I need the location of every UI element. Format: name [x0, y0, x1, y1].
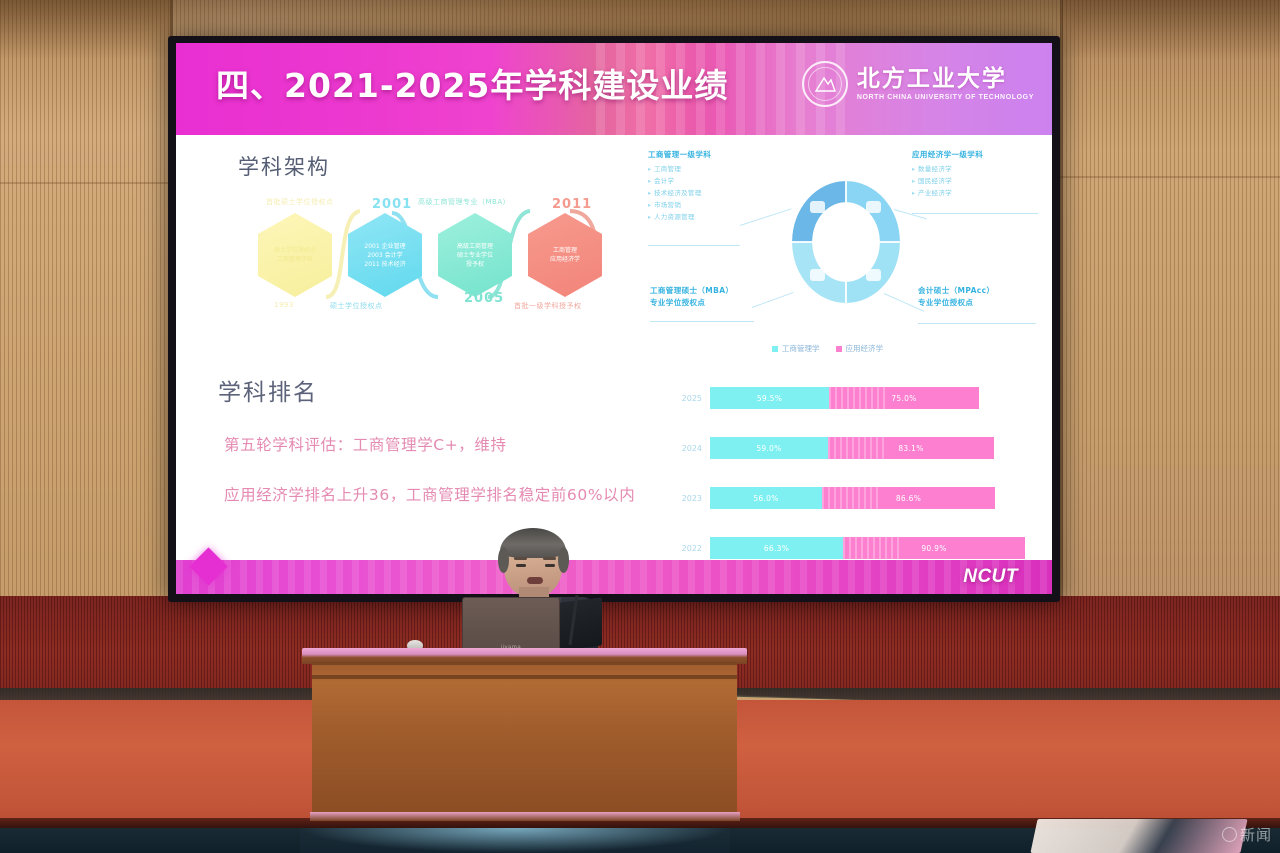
bar-category-label: 2023	[676, 494, 710, 503]
bar-category-label: 2025	[676, 394, 710, 403]
presenter-eye	[516, 564, 526, 567]
ranking-bar-chart: 工商管理学 应用经济学 2025 59.5% 75.0% 2024	[676, 343, 1046, 581]
chart-bar-row: 2024 59.0% 83.1%	[676, 437, 1046, 459]
donut-connector	[752, 292, 794, 308]
presenter-brow	[543, 557, 556, 560]
donut-connector	[740, 208, 792, 226]
bar-track: 59.5% 75.0%	[710, 387, 979, 409]
presenter-hair	[500, 528, 566, 558]
laptop-device	[560, 597, 602, 650]
bar-segment-b: 86.6%	[822, 487, 995, 509]
legend-label: 工商管理学	[782, 343, 820, 354]
bar-track: 56.0% 86.6%	[710, 487, 995, 509]
donut-left-title: 工商管理一级学科	[648, 149, 711, 160]
desk-monitor: iiyama	[462, 597, 560, 655]
donut-right-item: 产业经济学	[912, 187, 983, 199]
school-seal-icon	[802, 61, 848, 107]
wall-right-panel	[1062, 0, 1280, 600]
donut-icon-badge	[866, 201, 881, 213]
chart-bar-row: 2023 56.0% 86.6%	[676, 487, 1046, 509]
desk-groove	[312, 675, 737, 679]
timeline-caption-3: 首批一级学科授予权	[514, 301, 582, 311]
donut-icon-badge	[810, 269, 825, 281]
presenter-hair-side	[558, 547, 569, 573]
donut-right-title: 应用经济学一级学科	[912, 149, 983, 160]
slide-title: 四、2021-2025年学科建设业绩	[216, 59, 728, 107]
legend-label: 应用经济学	[846, 343, 884, 354]
donut-connector	[648, 245, 740, 246]
donut-left-item: 人力资源管理	[648, 211, 711, 223]
donut-left-item: 工商管理	[648, 163, 711, 175]
timeline-year-2011: 2011	[552, 197, 592, 212]
donut-left-item: 会计学	[648, 175, 711, 187]
donut-group-left-bottom: 工商管理硕士（MBA） 专业学位授权点	[650, 285, 733, 311]
watermark-ring-icon	[1222, 827, 1237, 842]
presenter-mouth	[527, 577, 543, 584]
bar-segment-a: 59.0%	[710, 437, 828, 459]
legend-swatch-icon	[836, 346, 842, 352]
presenter-brow	[514, 557, 527, 560]
donut-connector	[912, 213, 1038, 214]
donut-connector	[650, 321, 754, 322]
chart-bar-row: 2025 59.5% 75.0%	[676, 387, 1046, 409]
donut-left-item: 市场营销	[648, 199, 711, 211]
desk-base	[310, 812, 740, 821]
section-heading-architecture: 学科架构	[238, 151, 330, 181]
discipline-timeline-diagram: 硕士学位授权点 工商管理学科 2001 企业管理 2003 会计学 2011 技…	[252, 191, 632, 321]
donut-divider	[845, 279, 847, 303]
donut-group-right-bottom: 会计硕士（MPAcc） 专业学位授权点	[918, 285, 994, 311]
bar-segment-a: 56.0%	[710, 487, 822, 509]
section-heading-ranking: 学科排名	[218, 373, 318, 407]
donut-group-right-top: 应用经济学一级学科 数量经济学 国民经济学 产业经济学	[912, 149, 983, 199]
timeline-year-2001: 2001	[372, 197, 412, 212]
slide-header-bar: 四、2021-2025年学科建设业绩 北方工业大学 NORTH CHINA UN…	[176, 43, 1052, 135]
donut-icon-badge	[810, 201, 825, 213]
brand-text: 北方工业大学 NORTH CHINA UNIVERSITY OF TECHNOL…	[857, 67, 1034, 101]
bar-category-label: 2024	[676, 444, 710, 453]
donut-connector	[894, 209, 927, 219]
bar-track: 59.0% 83.1%	[710, 437, 994, 459]
donut-icon-badge	[866, 269, 881, 281]
timeline-caption-2: 高级工商管理专业（MBA）	[418, 197, 510, 207]
donut-bottom-left-label: 工商管理硕士（MBA） 专业学位授权点	[650, 285, 733, 308]
presentation-slide: 四、2021-2025年学科建设业绩 北方工业大学 NORTH CHINA UN…	[176, 43, 1052, 594]
donut-right-item: 国民经济学	[912, 175, 983, 187]
ranking-line-2: 应用经济学排名上升36，工商管理学排名稳定前60%以内	[224, 483, 635, 505]
presenter-eye	[545, 564, 555, 567]
donut-connector	[918, 323, 1036, 324]
bar-category-label: 2022	[676, 544, 710, 553]
bar-track: 66.3% 90.9%	[710, 537, 1025, 559]
wall-edge	[1060, 0, 1063, 600]
timeline-year-2005: 2005	[464, 291, 504, 306]
wall-seam	[0, 182, 180, 184]
legend-swatch-icon	[772, 346, 778, 352]
ranking-line-1: 第五轮学科评估：工商管理学C+，维持	[224, 433, 507, 455]
discipline-structure-donut: 工商管理一级学科 工商管理 会计学 技术经济及管理 市场营销 人力资源管理 应用…	[644, 147, 1044, 337]
timeline-caption-0-top: 首批硕士学位授权点	[266, 197, 334, 207]
donut-divider	[876, 241, 900, 243]
slide-footer-bar: NCUT	[176, 560, 1052, 594]
bar-segment-b: 83.1%	[828, 437, 994, 459]
donut-divider	[845, 181, 847, 205]
donut-right-item: 数量经济学	[912, 163, 983, 175]
wall-seam	[1060, 176, 1280, 178]
legend-item-0: 工商管理学	[772, 343, 820, 354]
donut-group-left-top: 工商管理一级学科 工商管理 会计学 技术经济及管理 市场营销 人力资源管理	[648, 149, 711, 223]
bar-segment-a: 66.3%	[710, 537, 843, 559]
foreground-notebook	[1030, 819, 1247, 853]
brand-name-cn: 北方工业大学	[857, 67, 1034, 91]
donut-divider	[792, 241, 816, 243]
news-watermark: 新闻	[1222, 824, 1272, 845]
donut-left-item: 技术经济及管理	[648, 187, 711, 199]
lecture-hall-room: 四、2021-2025年学科建设业绩 北方工业大学 NORTH CHINA UN…	[0, 0, 1280, 853]
floor-light-reflection	[300, 828, 730, 853]
bar-segment-b: 75.0%	[829, 387, 979, 409]
desk-front-panel	[312, 662, 737, 814]
projection-screen-frame: 四、2021-2025年学科建设业绩 北方工业大学 NORTH CHINA UN…	[168, 36, 1060, 602]
footer-logo-ncut: NCUT	[963, 566, 1018, 588]
chart-bar-row: 2022 66.3% 90.9%	[676, 537, 1046, 559]
presenter-desk	[302, 648, 747, 825]
bar-segment-b: 90.9%	[843, 537, 1025, 559]
brand-name-en: NORTH CHINA UNIVERSITY OF TECHNOLOGY	[857, 94, 1034, 101]
university-brand: 北方工业大学 NORTH CHINA UNIVERSITY OF TECHNOL…	[802, 61, 1034, 107]
chart-legend: 工商管理学 应用经济学	[772, 343, 883, 354]
donut-bottom-right-label: 会计硕士（MPAcc） 专业学位授权点	[918, 285, 994, 308]
bar-segment-a: 59.5%	[710, 387, 829, 409]
presenter-hair-side	[498, 547, 509, 573]
timeline-caption-1: 硕士学位授权点	[330, 301, 383, 311]
footer-stripe-pattern	[176, 560, 1052, 594]
timeline-caption-0-bottom: 1993	[274, 301, 294, 309]
wall-left-panel	[0, 0, 172, 600]
watermark-text: 新闻	[1240, 824, 1272, 845]
legend-item-1: 应用经济学	[836, 343, 884, 354]
